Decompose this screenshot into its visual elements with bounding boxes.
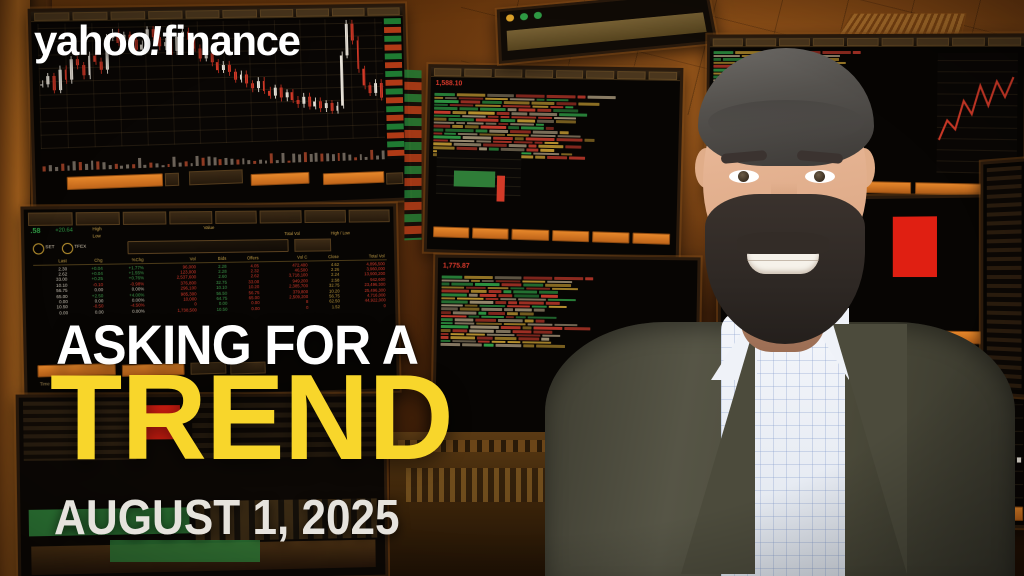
thumbnail-canvas: .58 +20.64 High Low Value Total Vol High… xyxy=(0,0,1024,576)
nvdr-checkbox[interactable] xyxy=(165,173,179,187)
mini-chart-candle xyxy=(497,176,506,202)
eye-right xyxy=(805,170,835,183)
index-change: +20.64 xyxy=(55,228,73,234)
radio-tfex[interactable] xyxy=(62,243,74,254)
tab-settings[interactable] xyxy=(349,209,390,222)
stat-label-value: Value xyxy=(203,225,214,230)
jacket-lapel-left xyxy=(681,324,755,574)
radio-set[interactable] xyxy=(33,243,45,254)
sub-button[interactable] xyxy=(294,239,331,252)
price-field[interactable] xyxy=(251,172,310,186)
multi-order-button[interactable] xyxy=(189,169,243,185)
table-cell: 0.00 xyxy=(229,306,261,312)
tab-quote[interactable] xyxy=(75,212,119,226)
mini-chart xyxy=(436,150,521,196)
eye-left xyxy=(729,170,759,183)
symbol-search-input[interactable] xyxy=(127,239,288,254)
lower-center-index: 1,775.87 xyxy=(443,263,470,270)
send-order-button[interactable] xyxy=(386,172,403,184)
center-index-value: 1,588.10 xyxy=(436,80,463,87)
table-cell: 1.52 xyxy=(310,304,342,310)
tab-portfolio[interactable] xyxy=(28,212,73,226)
anchor-portrait xyxy=(535,36,1024,576)
quote-table: Last Chg %Chg Vol Bids Offers Vol C Clos… xyxy=(33,253,388,316)
logo-word: yahoo xyxy=(34,17,151,64)
jacket-lapel-right xyxy=(833,324,907,574)
tab-chg[interactable] xyxy=(122,211,166,225)
show-title-main: TREND xyxy=(50,360,453,475)
table-cell: 0 xyxy=(342,303,388,309)
quote-table-body: 2.30+0.04+1.77%96,0002.284.05472,4004.62… xyxy=(33,261,388,317)
logo-suffix: finance xyxy=(162,17,299,64)
episode-date: AUGUST 1, 2025 xyxy=(54,494,400,543)
table-cell: 10.50 xyxy=(199,306,230,312)
stat-label-high: High xyxy=(92,226,101,231)
radio-set-label: SET xyxy=(45,244,54,249)
radio-tfex-label: TFEX xyxy=(74,244,86,249)
stat-label-total-vol: Total Vol xyxy=(284,231,299,236)
tab-bids-offers[interactable] xyxy=(169,211,212,224)
stat-label-high-low: High / Low xyxy=(331,230,350,235)
time-column-label: Time xyxy=(40,381,50,386)
mustache xyxy=(737,232,829,254)
tab-info[interactable] xyxy=(305,210,347,223)
stat-label-low: Low xyxy=(92,233,100,238)
index-value: .58 xyxy=(30,228,40,235)
terminal-tab-strip[interactable] xyxy=(28,209,390,223)
table-cell: 0 xyxy=(262,305,311,311)
hair xyxy=(698,48,874,166)
tab-technical[interactable] xyxy=(260,210,302,223)
credit-limit-field[interactable] xyxy=(323,171,385,185)
side-ticker-strip xyxy=(404,70,421,241)
yahoo-finance-logo[interactable]: yahoo!finance xyxy=(34,20,300,62)
tab-ticker[interactable] xyxy=(215,211,258,224)
